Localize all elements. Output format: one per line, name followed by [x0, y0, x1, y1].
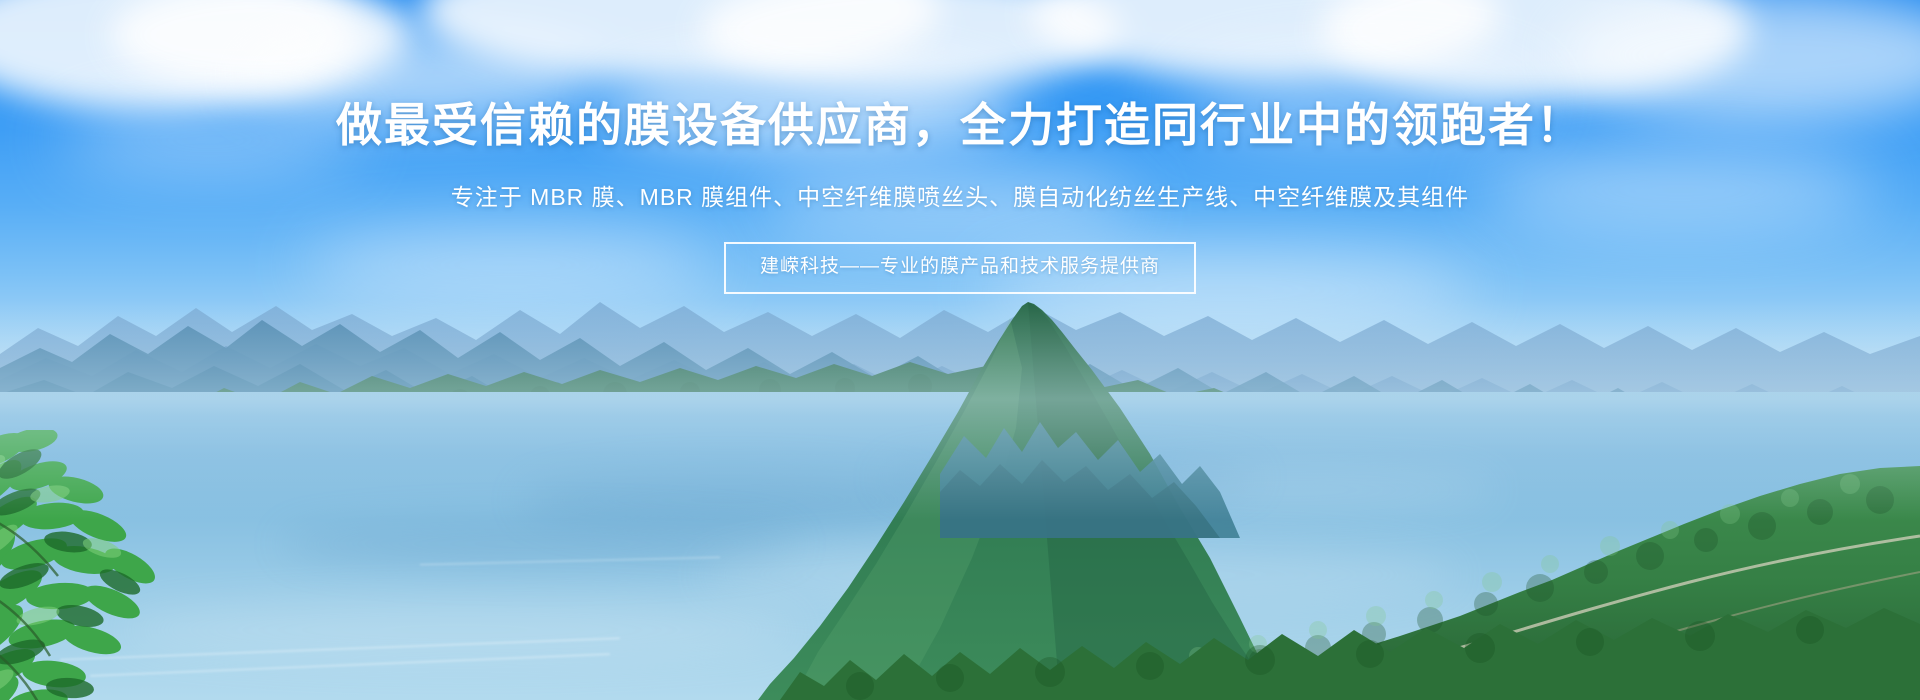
banner-tagline-wrap: 建嵘科技——专业的膜产品和技术服务提供商	[0, 242, 1920, 294]
banner-headline: 做最受信赖的膜设备供应商，全力打造同行业中的领跑者！	[0, 0, 1920, 152]
hero-banner: 做最受信赖的膜设备供应商，全力打造同行业中的领跑者！ 专注于 MBR 膜、MBR…	[0, 0, 1920, 700]
banner-tagline-box: 建嵘科技——专业的膜产品和技术服务提供商	[724, 242, 1196, 294]
foreground-tree	[0, 430, 310, 700]
banner-copy: 做最受信赖的膜设备供应商，全力打造同行业中的领跑者！ 专注于 MBR 膜、MBR…	[0, 0, 1920, 294]
banner-subheadline: 专注于 MBR 膜、MBR 膜组件、中空纤维膜喷丝头、膜自动化纺丝生产线、中空纤…	[0, 152, 1920, 212]
